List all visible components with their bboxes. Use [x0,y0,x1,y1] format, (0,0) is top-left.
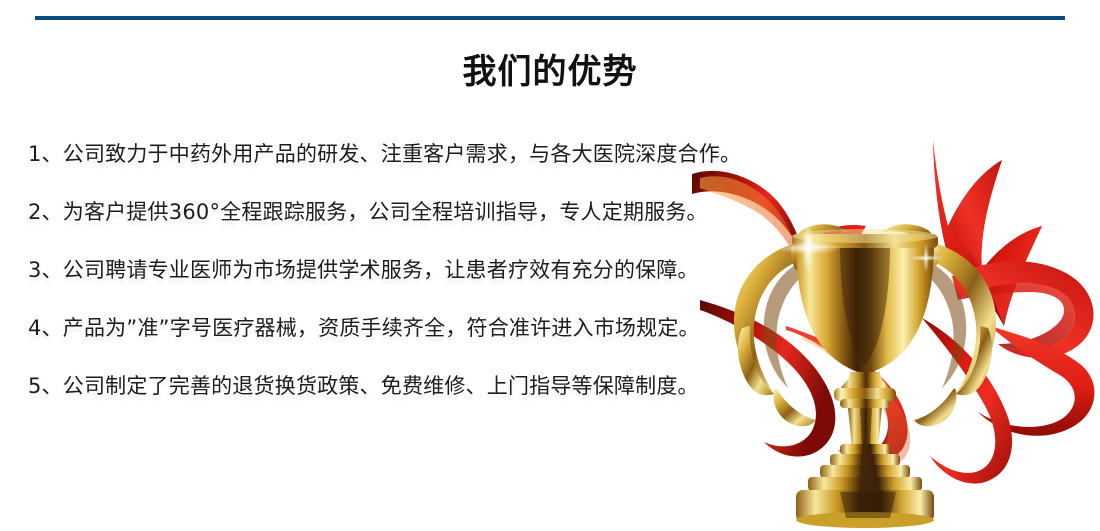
trophy-handle-left [734,224,848,426]
slide-canvas: 我们的优势 1、公司致力于中药外用产品的研发、注重客户需求，与各大医院深度合作。… [0,0,1100,531]
sparkle-icon [774,160,944,276]
ribbon-back [933,140,1042,326]
trophy-base [796,444,934,528]
page-title: 我们的优势 [0,51,1100,93]
trophy-stem [848,408,882,448]
list-item: 4、产品为”准”字号医疗器械，资质手续齐全，符合准许进入市场规定。 [28,314,748,372]
trophy-bowl [796,242,934,374]
trophy-rim [792,234,938,248]
trophy-ribbon-illustration [690,130,1100,531]
list-item: 5、公司制定了完善的退货换货政策、免费维修、上门指导等保障制度。 [28,372,748,430]
trophy-handle-right [882,224,996,426]
trophy [734,224,996,528]
ribbon-right-loop [922,261,1094,483]
list-item: 2、为客户提供360°全程跟踪服务，公司全程培训指导，专人定期服务。 [28,198,748,256]
list-item: 3、公司聘请专业医师为市场提供学术服务，让患者疗效有充分的保障。 [28,256,748,314]
top-divider-line [35,16,1065,20]
list-item: 1、公司致力于中药外用产品的研发、注重客户需求，与各大医院深度合作。 [28,140,748,198]
advantages-list: 1、公司致力于中药外用产品的研发、注重客户需求，与各大医院深度合作。 2、为客户… [28,140,748,430]
